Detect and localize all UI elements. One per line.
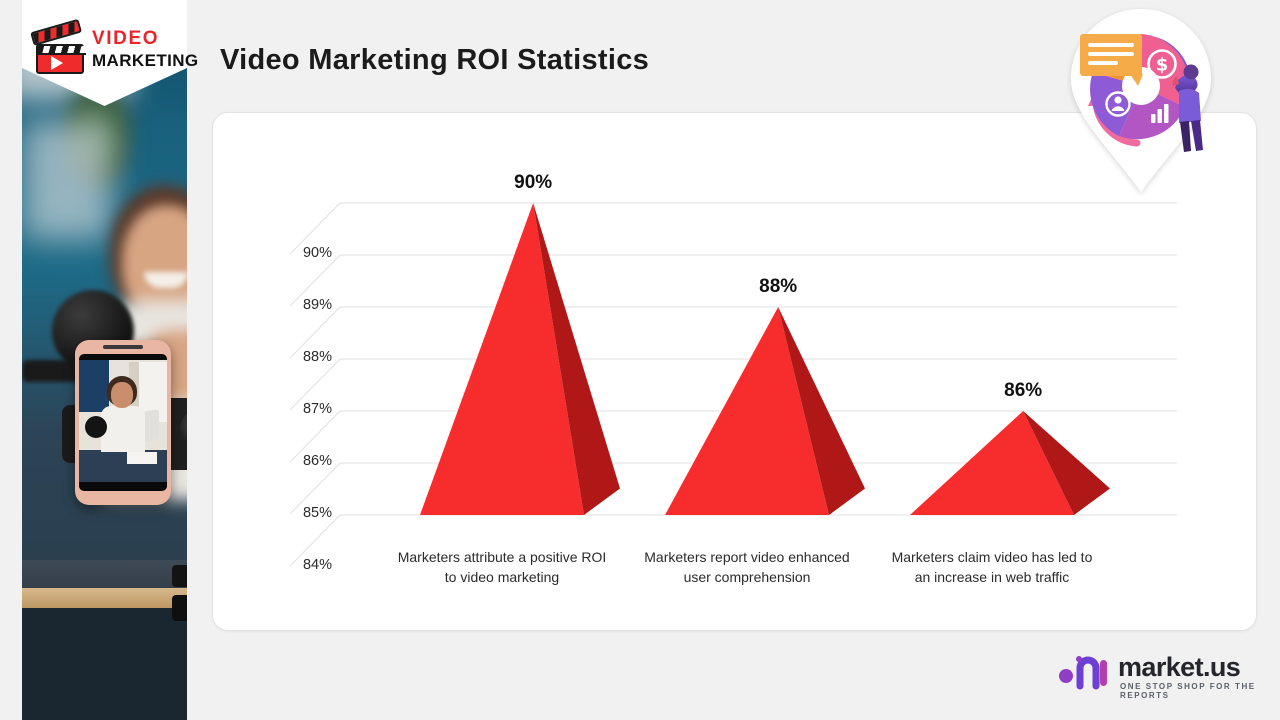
- phone-scene-paper: [127, 452, 157, 464]
- logo-line-video: VIDEO: [92, 28, 199, 50]
- x-axis-category-label: Marketers claim video has led to an incr…: [882, 548, 1102, 587]
- photo-phone-speaker: [103, 345, 143, 349]
- marketus-wordmark: market.us: [1118, 652, 1240, 683]
- x-axis-category-label: Marketers report video enhanced user com…: [637, 548, 857, 587]
- page-title: Video Marketing ROI Statistics: [220, 44, 649, 77]
- photo-desk-clip-upper: [172, 565, 187, 587]
- photo-desk-front: [22, 608, 187, 720]
- photo-desk-clip-lower: [172, 595, 187, 621]
- photo-desk-top: [22, 560, 187, 590]
- video-marketing-logo: VIDEO MARKETING: [34, 24, 180, 80]
- cone-value-label: 88%: [708, 276, 848, 298]
- marketus-logo: market.us ONE STOP SHOP FOR THE REPORTS: [1058, 652, 1258, 700]
- play-triangle-icon: [51, 56, 63, 70]
- phone-scene-person-face: [111, 382, 133, 408]
- phone-scene-microphone: [85, 416, 107, 438]
- marketus-tagline: ONE STOP SHOP FOR THE REPORTS: [1120, 682, 1258, 700]
- photo-smartphone: [75, 340, 171, 505]
- svg-text:$: $: [1156, 55, 1169, 76]
- clapperboard-stripe: [38, 46, 86, 55]
- photo-desk-edge: [22, 588, 187, 610]
- cone-value-label: 86%: [953, 380, 1093, 402]
- photo-window: [22, 120, 112, 240]
- logo-line-marketing: MARKETING: [92, 50, 199, 72]
- phone-scene-person-body: [101, 406, 145, 452]
- x-axis-category-label: Marketers attribute a positive ROI to vi…: [392, 548, 612, 587]
- sidebar-photo: [22, 0, 187, 720]
- clapperboard-play-icon: [34, 32, 86, 74]
- marketing-roi-pin-badge: $: [1067, 6, 1215, 196]
- marketus-mark-icon: [1058, 654, 1114, 690]
- video-marketing-wordmark: VIDEO MARKETING: [92, 28, 199, 72]
- photo-phone-screen: [79, 354, 167, 491]
- cone-value-label: 90%: [463, 172, 603, 194]
- phone-scene-banner: [79, 360, 109, 412]
- photo-microphone-stem: [22, 360, 82, 382]
